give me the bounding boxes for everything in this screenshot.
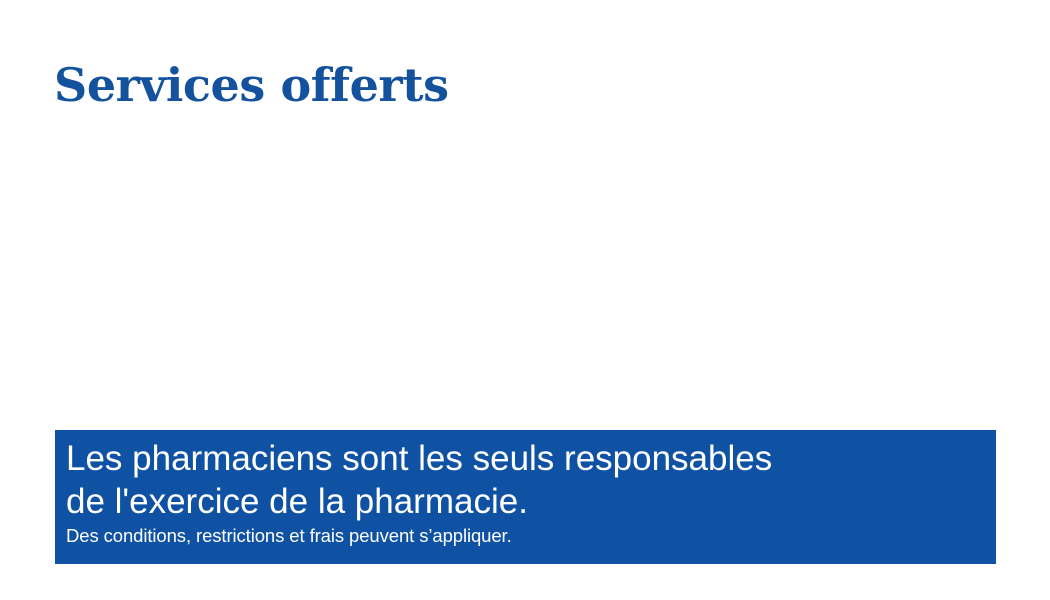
banner-subline: Des conditions, restrictions et frais pe… — [66, 524, 996, 548]
banner-headline-line-1: Les pharmaciens sont les seuls responsab… — [66, 437, 996, 480]
statement-banner: Les pharmaciens sont les seuls responsab… — [55, 430, 996, 564]
slide-canvas: Services offerts Les pharmaciens sont le… — [0, 0, 1050, 600]
banner-headline-line-2: de l'exercice de la pharmacie. — [66, 480, 996, 523]
page-title: Services offerts — [54, 60, 954, 110]
slide-content-area — [54, 130, 996, 420]
